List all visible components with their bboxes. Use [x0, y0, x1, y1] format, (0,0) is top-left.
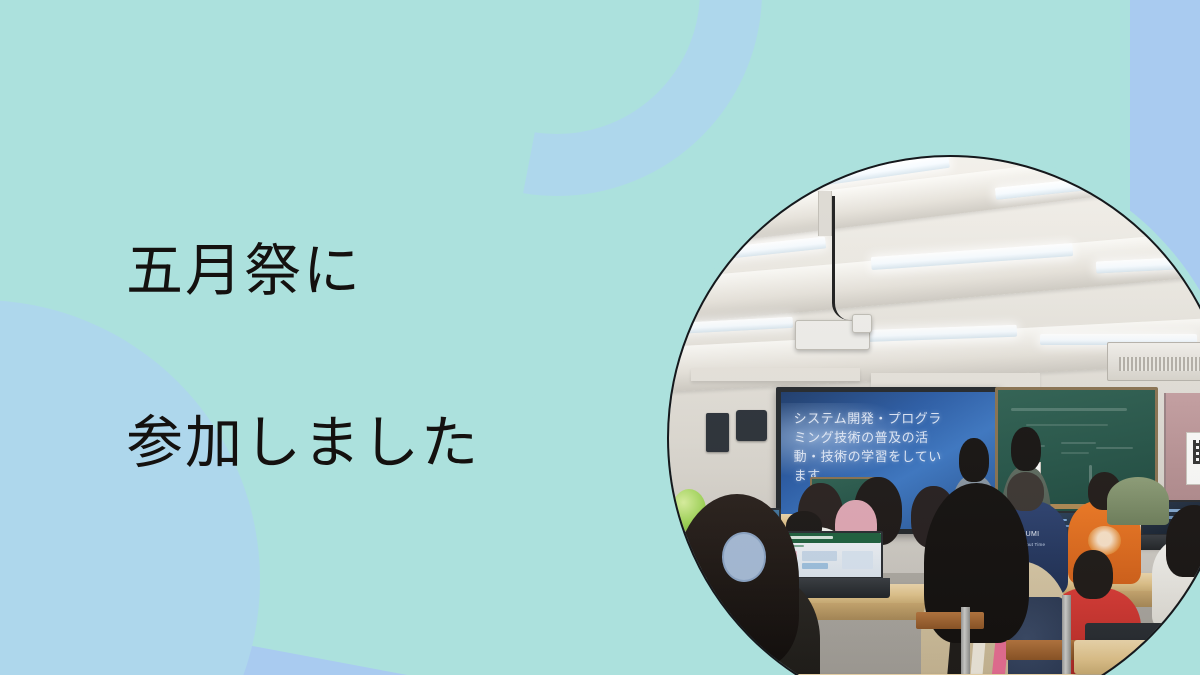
cap	[1107, 477, 1169, 524]
classroom-photo-scene: システム開発・プログラ ミング技術の普及の活 動・技術の学習をしてい ます	[669, 157, 1200, 675]
student-head	[1073, 550, 1113, 599]
air-conditioner-grille	[1119, 357, 1200, 372]
projector-lens-block	[852, 314, 872, 333]
chalk-writing	[1096, 447, 1134, 449]
desk-leg	[961, 607, 970, 675]
student-with-cap	[1107, 477, 1169, 544]
headline: 五月祭に 参加しました	[126, 142, 596, 572]
student-hair	[669, 629, 781, 675]
wall-speaker	[706, 413, 730, 452]
presenter-head	[1011, 427, 1040, 471]
chalk-writing	[1061, 452, 1089, 454]
headline-line-2: 参加しました	[126, 400, 596, 486]
ceiling-track	[871, 373, 1040, 386]
slide-canvas: 五月祭に 参加しました	[0, 0, 1200, 675]
desk-foreground	[1074, 640, 1200, 674]
wall-speaker	[736, 410, 767, 441]
circular-photo: システム開発・プログラ ミング技術の普及の活 動・技術の学習をしてい ます	[660, 148, 1200, 675]
foreground-head	[669, 629, 781, 675]
chalk-writing	[1011, 408, 1127, 411]
content-card	[842, 551, 873, 569]
door-notice	[1186, 432, 1200, 485]
projector-cable	[832, 196, 849, 320]
hair-scrunchie	[722, 532, 766, 582]
headline-line-1: 五月祭に	[126, 228, 596, 314]
chalk-writing	[1026, 424, 1108, 426]
projector-mount	[818, 191, 832, 236]
student-hair	[1166, 505, 1200, 577]
chair-seat	[916, 612, 983, 629]
ceiling-track	[691, 368, 860, 381]
desk-leg	[1062, 595, 1071, 675]
chalk-writing	[1061, 442, 1096, 444]
door-notice-qr	[1193, 440, 1200, 463]
photo-clip: システム開発・プログラ ミング技術の普及の活 動・技術の学習をしてい ます	[669, 157, 1200, 675]
